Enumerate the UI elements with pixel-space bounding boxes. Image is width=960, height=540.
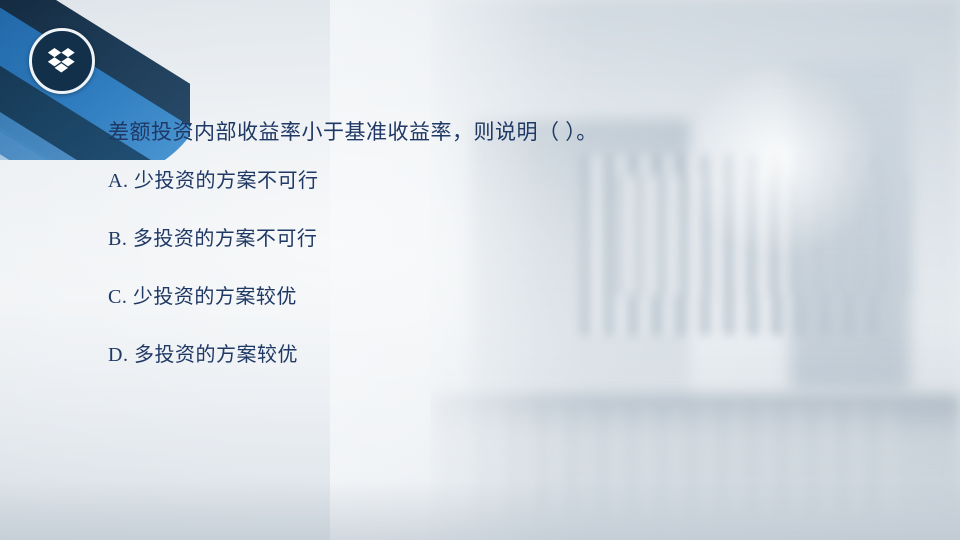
dropbox-logo-icon [47,47,77,75]
option-b: B. 多投资的方案不可行 [108,226,748,252]
option-a: A. 少投资的方案不可行 [108,168,748,194]
question-text: 差额投资内部收益率小于基准收益率，则说明（ ）。 [108,118,748,146]
option-d: D. 多投资的方案较优 [108,342,748,368]
background-bottom-shade [0,480,960,540]
logo-badge [29,28,95,94]
slide-content: 差额投资内部收益率小于基准收益率，则说明（ ）。 A. 少投资的方案不可行 B.… [108,118,748,368]
option-c: C. 少投资的方案较优 [108,284,748,310]
slide: 差额投资内部收益率小于基准收益率，则说明（ ）。 A. 少投资的方案不可行 B.… [0,0,960,540]
